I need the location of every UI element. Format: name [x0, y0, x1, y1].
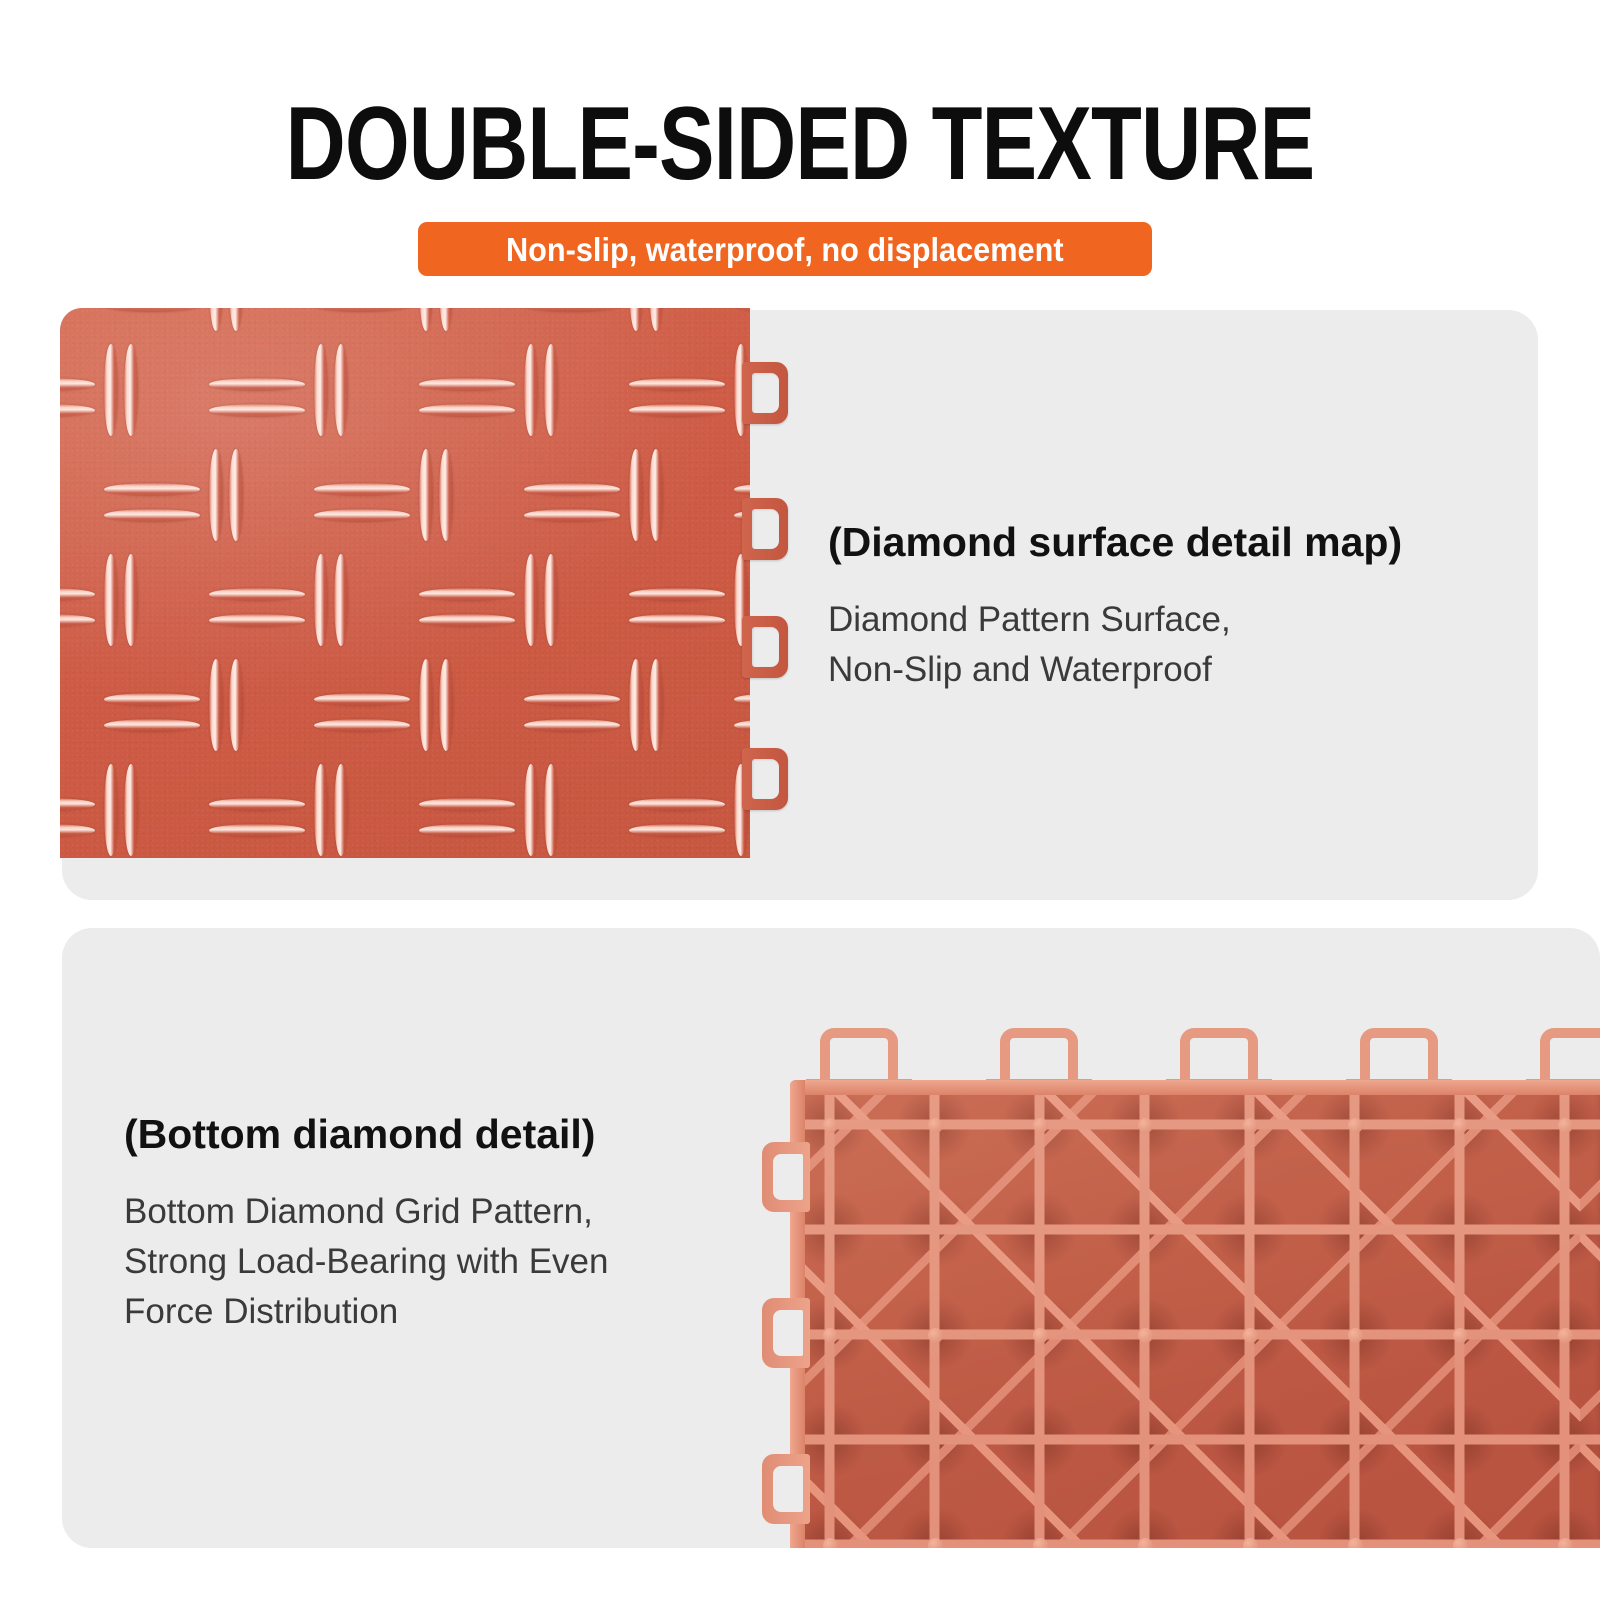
tile-top-surface: [60, 308, 750, 858]
plate-ridge: [629, 659, 643, 751]
plate-ridge: [419, 798, 515, 811]
connector-tab-left: [762, 1298, 810, 1368]
plate-ridge: [524, 693, 620, 706]
plate-ridge: [544, 344, 558, 436]
grid-knob: [1138, 1538, 1153, 1548]
page-title: DOUBLE-SIDED TEXTURE: [160, 92, 1440, 196]
plate-ridge: [334, 554, 348, 646]
plate-ridge: [334, 764, 348, 856]
grid-knob: [1243, 1538, 1258, 1548]
plate-ridge: [419, 824, 515, 837]
plate-ridge: [419, 404, 515, 417]
plate-ridge: [439, 449, 453, 541]
subtitle-badge: Non-slip, waterproof, no displacement: [418, 222, 1152, 276]
plate-ridge: [314, 509, 410, 522]
plate-ridge: [209, 798, 305, 811]
copy-heading-bottom: (Bottom diamond detail): [124, 1110, 744, 1158]
grid-knob: [1138, 1328, 1153, 1343]
plate-ridge: [209, 824, 305, 837]
plate-ridge: [314, 693, 410, 706]
diamond-grid-tile-image: [762, 1020, 1600, 1548]
plate-ridge: [629, 404, 725, 417]
grid-knob: [1033, 1118, 1048, 1133]
connector-tab-right: [742, 616, 788, 678]
plate-ridge: [419, 378, 515, 391]
copy-block-top: (Diamond surface detail map) Diamond Pat…: [828, 518, 1488, 695]
plate-ridge: [524, 509, 620, 522]
grid-knob: [1558, 1538, 1573, 1548]
grid-knob: [1558, 1328, 1573, 1343]
plate-ridge: [124, 554, 138, 646]
plate-ridge: [419, 449, 433, 541]
grid-knob: [1558, 1118, 1573, 1133]
grid-knob: [1243, 1328, 1258, 1343]
plate-ridge: [629, 588, 725, 601]
plate-ridge: [229, 449, 243, 541]
plate-ridge: [629, 798, 725, 811]
plate-ridge: [314, 764, 328, 856]
copy-block-bottom: (Bottom diamond detail) Bottom Diamond G…: [124, 1110, 744, 1337]
grid-knob: [1243, 1118, 1258, 1133]
connector-tab-right: [742, 498, 788, 560]
plate-ridge: [419, 659, 433, 751]
plate-ridge: [649, 659, 663, 751]
plate-ridge: [104, 344, 118, 436]
plate-ridge: [544, 764, 558, 856]
grid-knob: [823, 1118, 838, 1133]
plate-ridge: [104, 693, 200, 706]
copy-body-bottom: Bottom Diamond Grid Pattern, Strong Load…: [124, 1187, 744, 1337]
plate-ridge: [629, 614, 725, 627]
plate-ridge: [419, 588, 515, 601]
plate-ridge: [524, 554, 538, 646]
plate-ridge: [524, 764, 538, 856]
grid-knob: [928, 1328, 943, 1343]
grid-knob: [1348, 1328, 1363, 1343]
tile-underside-grid: [790, 1080, 1600, 1548]
copy-heading-top: (Diamond surface detail map): [828, 518, 1488, 566]
header-section: DOUBLE-SIDED TEXTURE Non-slip, waterproo…: [0, 0, 1600, 300]
connector-tab-right: [742, 748, 788, 810]
plate-ridge: [419, 614, 515, 627]
tile-rim-top: [790, 1080, 1600, 1095]
plate-ridge: [314, 483, 410, 496]
plate-ridge: [629, 449, 643, 541]
plate-ridge: [334, 344, 348, 436]
plate-ridge: [314, 719, 410, 732]
plate-ridge: [524, 344, 538, 436]
plate-ridge: [124, 344, 138, 436]
plate-ridge: [104, 509, 200, 522]
grid-knob: [823, 1328, 838, 1343]
grid-knob: [1138, 1118, 1153, 1133]
plate-ridge: [124, 764, 138, 856]
plate-ridge: [629, 824, 725, 837]
plate-ridge: [209, 449, 223, 541]
tile-surface-grain: [60, 308, 750, 858]
grid-knob: [1033, 1328, 1048, 1343]
plate-ridge: [229, 659, 243, 751]
plate-ridge: [544, 554, 558, 646]
plate-ridge: [649, 449, 663, 541]
copy-body-top: Diamond Pattern Surface, Non-Slip and Wa…: [828, 595, 1488, 695]
plate-ridge: [104, 554, 118, 646]
grid-knob: [823, 1538, 838, 1548]
plate-ridge: [209, 659, 223, 751]
grid-knob: [928, 1538, 943, 1548]
grid-shading: [790, 1080, 1600, 1548]
plate-ridge: [209, 614, 305, 627]
plate-ridge: [209, 378, 305, 391]
grid-knob: [1453, 1538, 1468, 1548]
plate-ridge: [524, 483, 620, 496]
plate-ridge: [104, 764, 118, 856]
plate-ridge: [629, 378, 725, 391]
diamond-plate-tile-image: [60, 308, 850, 858]
plate-ridge: [104, 483, 200, 496]
subtitle-badge-label: Non-slip, waterproof, no displacement: [506, 233, 1064, 266]
connector-tab-left: [762, 1454, 810, 1524]
plate-ridge: [314, 554, 328, 646]
plate-ridge: [439, 659, 453, 751]
plate-ridge: [104, 719, 200, 732]
plate-ridge: [524, 719, 620, 732]
connector-tab-left: [762, 1142, 810, 1212]
plate-ridge: [314, 344, 328, 436]
grid-knob: [1453, 1118, 1468, 1133]
grid-knob: [928, 1118, 943, 1133]
grid-knob: [1348, 1118, 1363, 1133]
plate-ridge: [209, 588, 305, 601]
grid-knob: [1033, 1538, 1048, 1548]
grid-knob: [1453, 1328, 1468, 1343]
grid-knob: [1348, 1538, 1363, 1548]
plate-ridge: [209, 404, 305, 417]
connector-tab-right: [742, 362, 788, 424]
